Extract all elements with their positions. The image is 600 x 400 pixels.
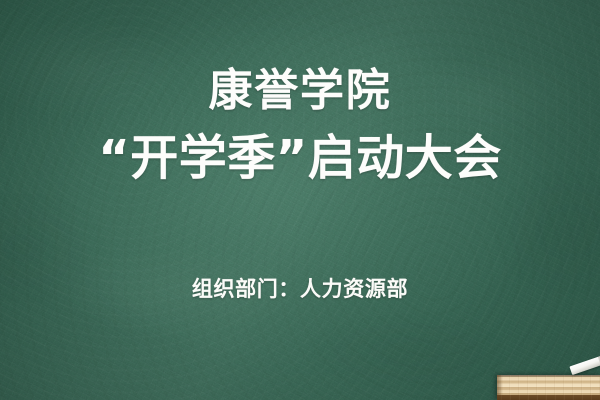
chalk-ledge-woodgrain	[497, 375, 600, 400]
slide-content: 康誉学院 “开学季”启动大会 组织部门：人力资源部	[0, 0, 600, 400]
slide-title-line-1: 康誉学院	[0, 66, 600, 116]
slide-title-line-2: “开学季”启动大会	[0, 130, 600, 186]
chalk-ledge	[497, 375, 600, 400]
chalk-ledge-end-cap	[497, 375, 503, 400]
chalkboard-title-slide: 康誉学院 “开学季”启动大会 组织部门：人力资源部	[0, 0, 600, 400]
slide-subtitle-organizer: 组织部门：人力资源部	[0, 276, 600, 302]
